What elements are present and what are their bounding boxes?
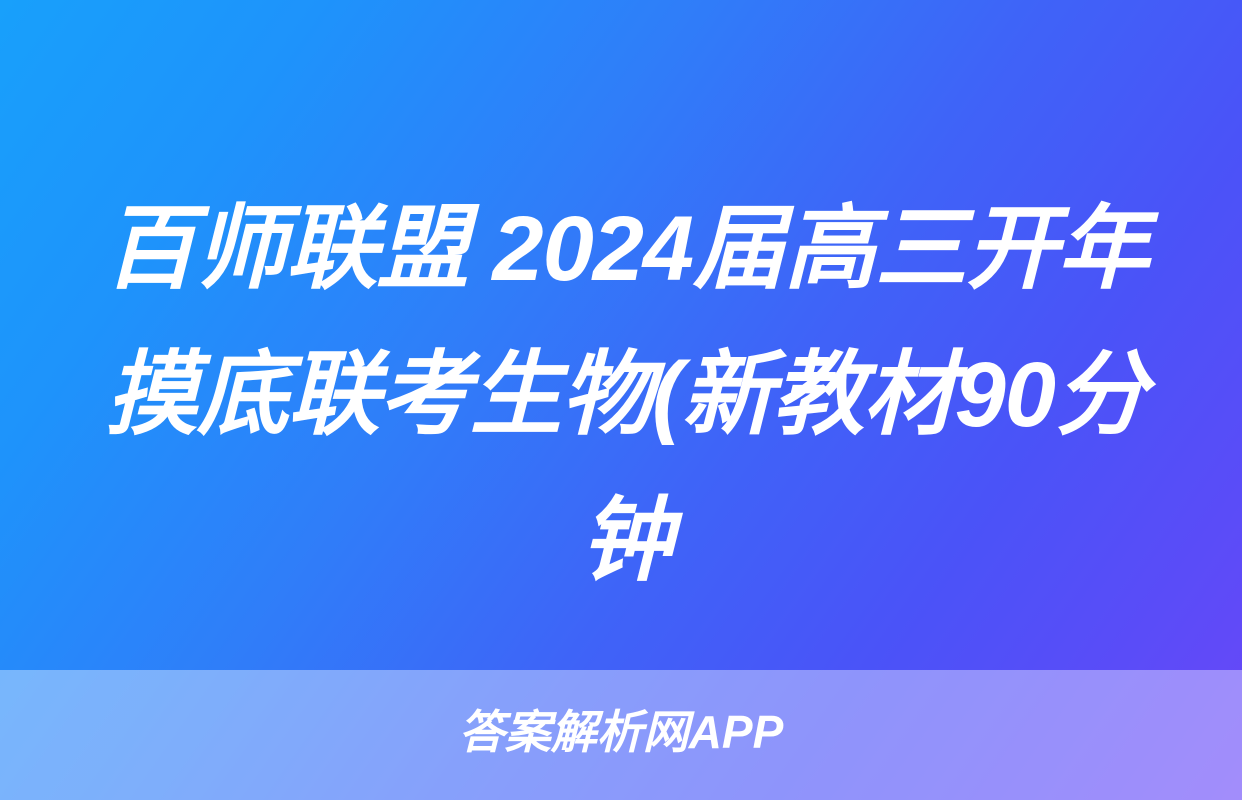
page-title: 百师联盟 2024届高三开年摸底联考生物(新教材90分钟 bbox=[80, 176, 1172, 614]
title-block: 百师联盟 2024届高三开年摸底联考生物(新教材90分钟 bbox=[80, 176, 1172, 614]
exam-cover-card: 百师联盟 2024届高三开年摸底联考生物(新教材90分钟 答案解析网APP bbox=[0, 0, 1242, 800]
watermark-label: 答案解析网APP bbox=[459, 706, 784, 758]
watermark: 答案解析网APP bbox=[0, 706, 1242, 758]
